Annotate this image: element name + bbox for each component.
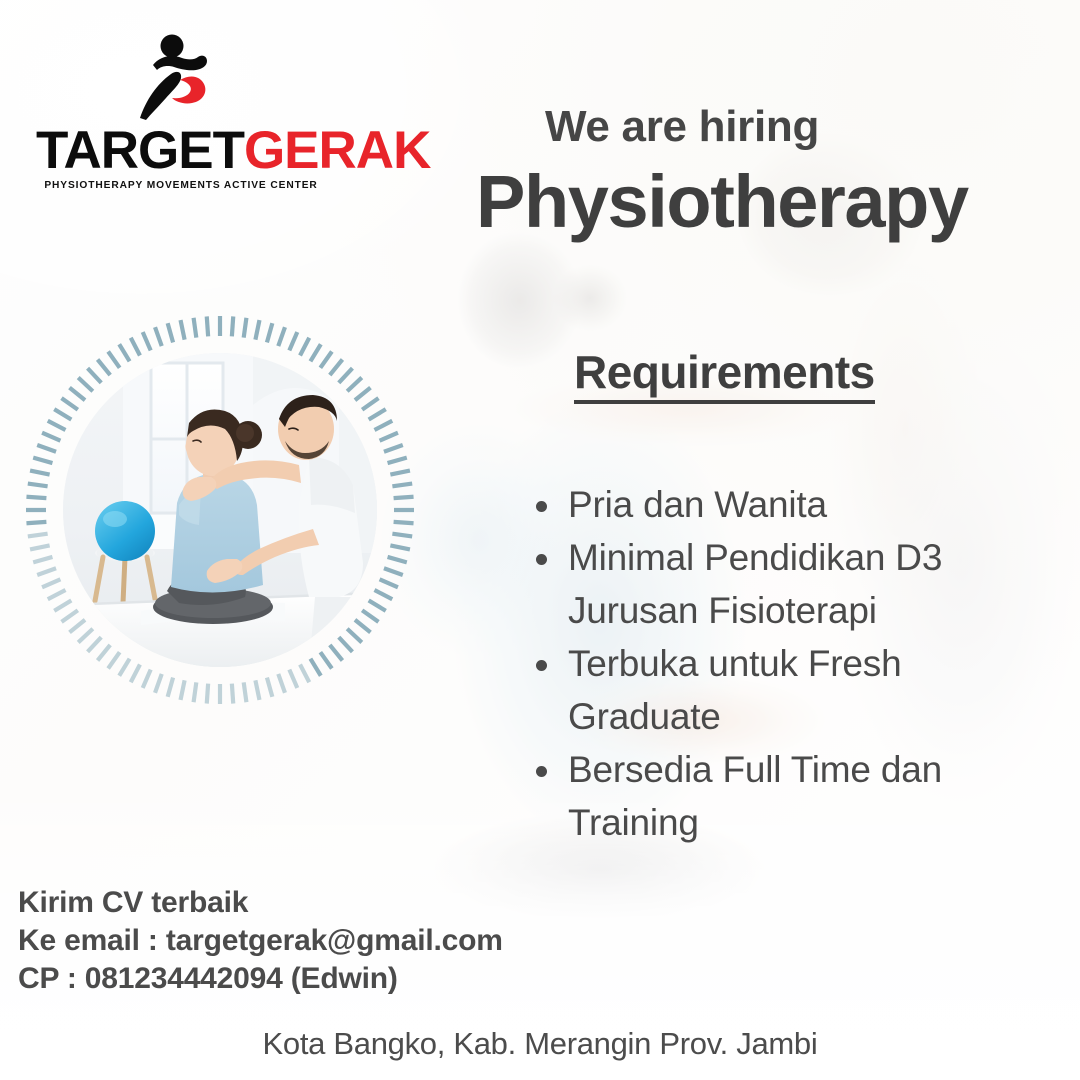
list-item: Terbuka untuk Fresh Graduate [532, 637, 1052, 743]
physiotherapy-session-photo [63, 353, 377, 667]
logo-word-gerak: GERAK [244, 121, 430, 180]
recruitment-poster: TARGETGERAK PHYSIOTHERAPY MOVEMENTS ACTI… [0, 0, 1080, 1080]
photo-illustration [63, 353, 377, 667]
contact-line-phone: CP : 081234442094 (Edwin) [18, 960, 503, 998]
logo-word-target: TARGET [36, 121, 244, 180]
running-person-icon [124, 30, 224, 130]
contact-line-cv: Kirim CV terbaik [18, 884, 503, 922]
location-text: Kota Bangko, Kab. Merangin Prov. Jambi [0, 1026, 1080, 1062]
logo-tagline: PHYSIOTHERAPY MOVEMENTS ACTIVE CENTER [36, 180, 326, 191]
list-item: Bersedia Full Time dan Training [532, 743, 1052, 849]
list-item: Minimal Pendidikan D3 Jurusan Fisioterap… [532, 531, 1052, 637]
hiring-eyebrow: We are hiring [545, 105, 819, 149]
requirements-list: Pria dan Wanita Minimal Pendidikan D3 Ju… [532, 478, 1052, 849]
photo-circle-block [5, 295, 435, 725]
contact-block: Kirim CV terbaik Ke email : targetgerak@… [18, 884, 503, 998]
list-item: Pria dan Wanita [532, 478, 1052, 531]
brand-logo: TARGETGERAK PHYSIOTHERAPY MOVEMENTS ACTI… [36, 30, 326, 191]
logo-wordmark: TARGETGERAK [36, 124, 326, 177]
contact-line-email: Ke email : targetgerak@gmail.com [18, 922, 503, 960]
requirements-heading: Requirements [574, 349, 875, 404]
page-title: Physiotherapy [476, 165, 968, 239]
